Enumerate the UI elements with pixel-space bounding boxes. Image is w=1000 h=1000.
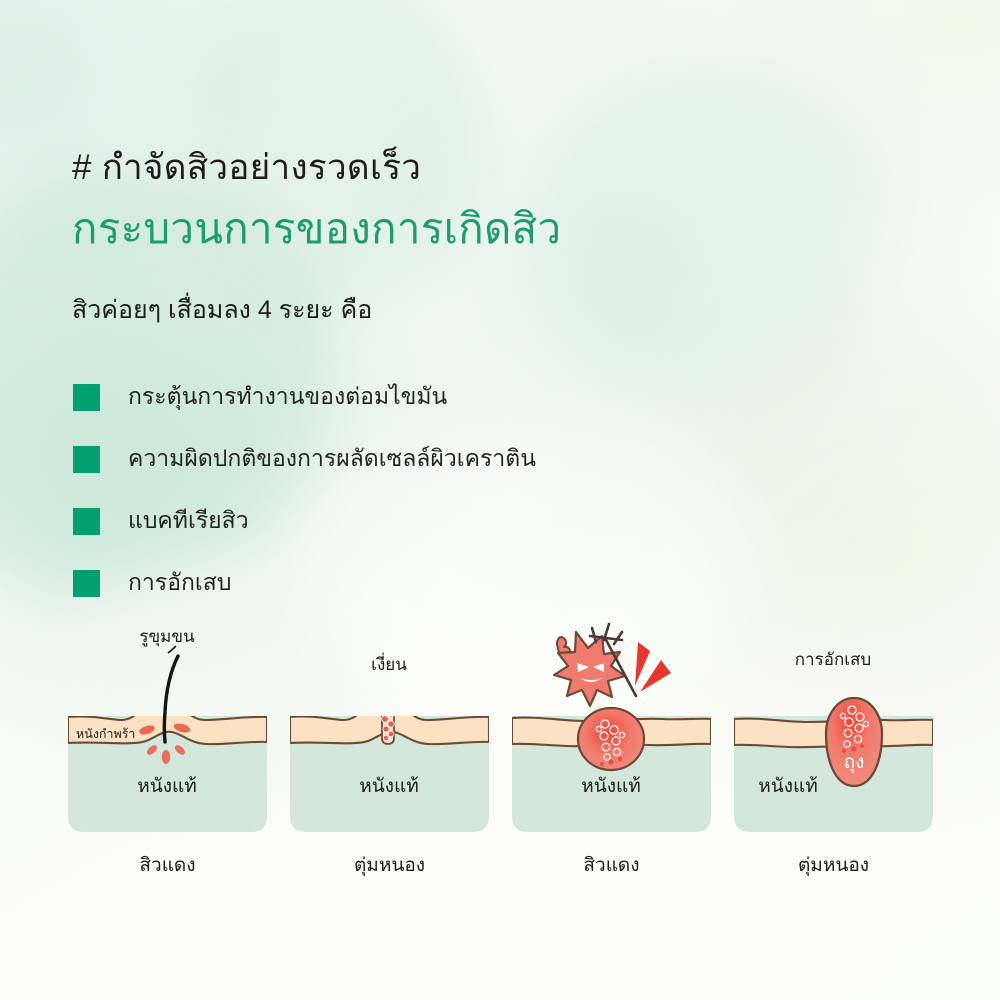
- list-item-label: ความผิดปกติของการผลัดเซลล์ผิวเคราติน: [128, 441, 536, 477]
- diagram-panel-stage-2: เงี่ยน หนังแท้ ตุ่มหนอง: [282, 620, 497, 890]
- list-item: การอักเสบ: [73, 552, 773, 614]
- stage-diagram: รูขุมขน หนังกำพร้า หนังแท้ สิวแดง: [60, 620, 950, 890]
- panel-caption: ตุ่มหนอง: [726, 850, 941, 880]
- bullet-square-icon: [73, 446, 100, 473]
- list-item: กระตุ้นการทำงานของต่อมไขมัน: [73, 366, 773, 428]
- panel-caption: สิวแดง: [60, 850, 275, 880]
- infographic-page: # กำจัดสิวอย่างรวดเร็ว กระบวนการของการเก…: [0, 0, 1000, 1000]
- panel-top-label: การอักเสบ: [795, 650, 871, 669]
- list-item: ความผิดปกติของการผลัดเซลล์ผิวเคราติน: [73, 428, 773, 490]
- list-item: แบคทีเรียสิว: [73, 490, 773, 552]
- dermis-label: หนังแท้: [758, 776, 818, 797]
- impact-lines-icon: [635, 642, 671, 692]
- bullet-square-icon: [73, 508, 100, 535]
- subtitle: สิวค่อยๆ เสื่อมลง 4 ระยะ คือ: [72, 290, 372, 330]
- bullet-square-icon: [73, 384, 100, 411]
- diagram-panel-stage-3: หนังแท้ สิวแดง: [504, 620, 719, 890]
- epidermis-label: หนังกำพร้า: [76, 727, 135, 741]
- dermis-label: หนังแท้: [581, 776, 641, 797]
- panel-caption: ตุ่มหนอง: [282, 850, 497, 880]
- panel-top-label: เงี่ยน: [371, 652, 407, 674]
- page-title: กระบวนการของการเกิดสิว: [72, 196, 561, 262]
- bullet-square-icon: [73, 570, 100, 597]
- panel-top-label: รูขุมขน: [139, 627, 195, 647]
- panel-caption: สิวแดง: [504, 850, 719, 880]
- list-item-label: กระตุ้นการทำงานของต่อมไขมัน: [128, 379, 447, 415]
- dermis-label: หนังแท้: [359, 776, 419, 797]
- list-item-label: แบคทีเรียสิว: [128, 503, 249, 539]
- stage-list: กระตุ้นการทำงานของต่อมไขมัน ความผิดปกติข…: [73, 366, 773, 614]
- diagram-panel-stage-4: ถุง การอักเสบ หนังแท้ ตุ่มหนอง: [726, 620, 941, 890]
- sac-label: ถุง: [844, 752, 865, 774]
- hashtag-headline: # กำจัดสิวอย่างรวดเร็ว: [72, 140, 421, 195]
- list-item-label: การอักเสบ: [128, 565, 231, 601]
- dermis-label: หนังแท้: [137, 776, 197, 797]
- diagram-panel-stage-1: รูขุมขน หนังกำพร้า หนังแท้ สิวแดง: [60, 620, 275, 890]
- leader-line: [168, 646, 176, 653]
